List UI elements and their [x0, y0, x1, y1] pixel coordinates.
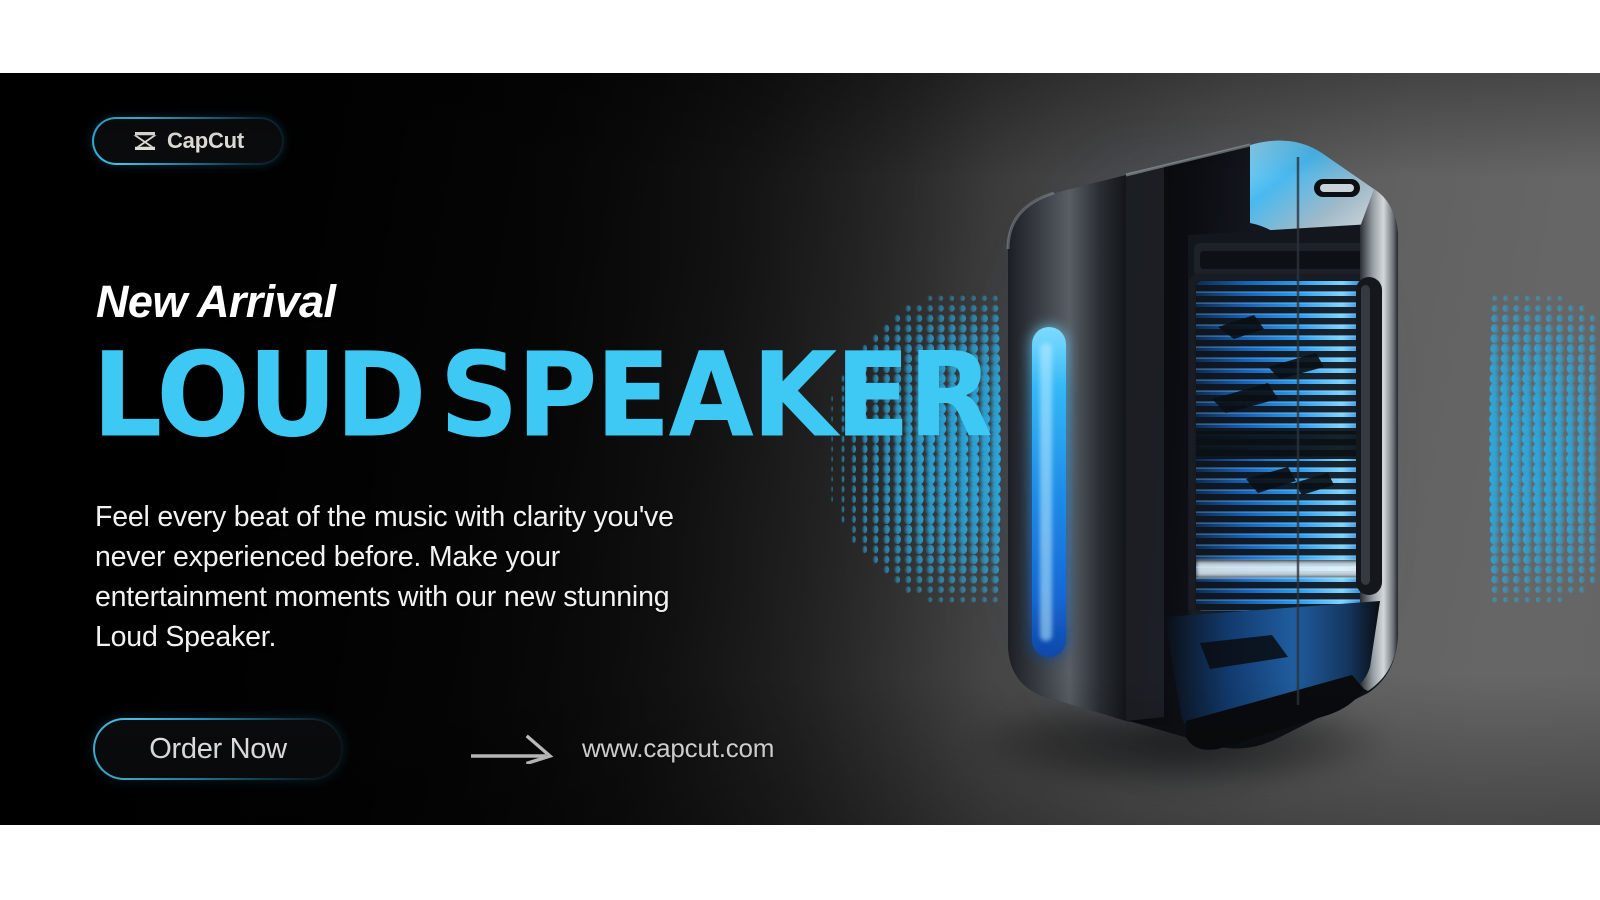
eyebrow-text: New Arrival	[96, 279, 335, 324]
body-paragraph: Feel every beat of the music with clarit…	[95, 497, 735, 657]
order-now-label: Order Now	[149, 733, 287, 766]
loud-speaker-product-image	[950, 131, 1420, 761]
order-now-button[interactable]: Order Now	[93, 718, 343, 780]
capcut-logo-icon	[132, 130, 158, 152]
capcut-logo-text: CapCut	[167, 130, 244, 152]
promo-banner: CapCut New Arrival LOUDSPEAKER Feel ever…	[0, 73, 1600, 825]
copy-column: CapCut New Arrival LOUDSPEAKER Feel ever…	[90, 73, 790, 825]
page-title: LOUDSPEAKER	[92, 345, 991, 447]
website-url[interactable]: www.capcut.com	[582, 733, 774, 764]
arrow-right-icon	[470, 734, 556, 764]
headline-word-1: LOUD	[92, 327, 425, 464]
capcut-logo-badge[interactable]: CapCut	[92, 117, 284, 165]
headline-word-2: SPEAKER	[439, 327, 991, 464]
